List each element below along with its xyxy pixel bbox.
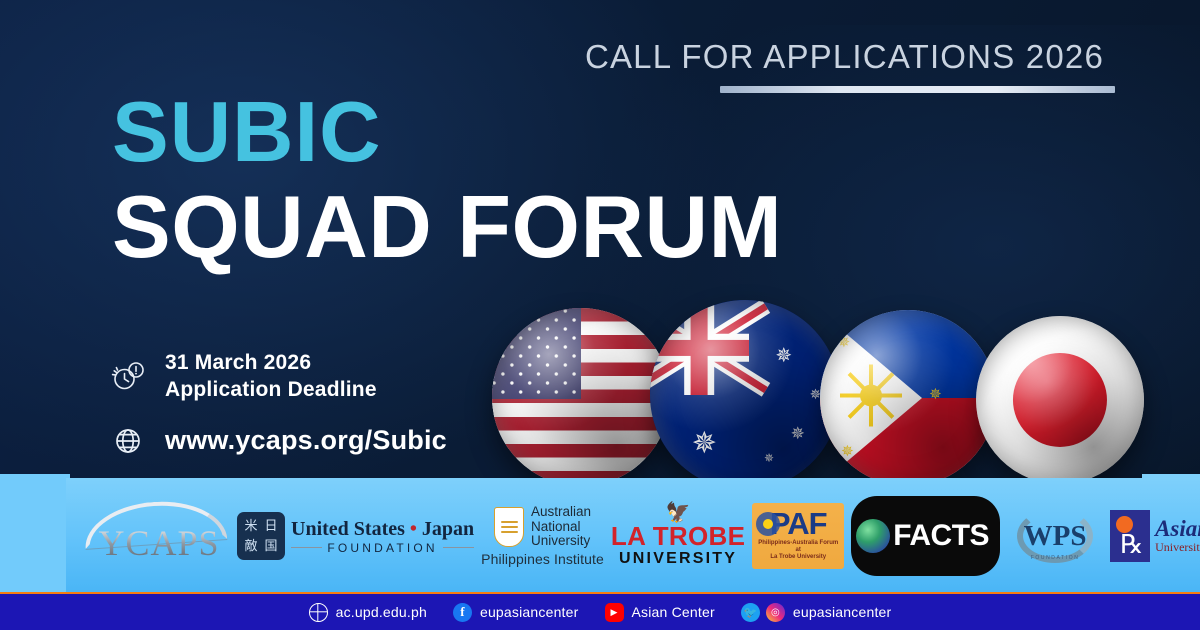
page-title-line2: SQUAD FORUM [112, 185, 782, 269]
flag-sphere-japan [976, 316, 1144, 484]
clock-alert-icon [108, 356, 148, 398]
usjf-title-dot: • [410, 518, 417, 540]
usjf-seal-char: 国 [264, 540, 277, 553]
footer-website-label: ac.upd.edu.ph [336, 604, 427, 620]
anu-name-line3: University [531, 534, 591, 549]
deadline-row: 31 March 2026 Application Deadline [108, 350, 447, 404]
logo-band-left-edge [0, 474, 70, 594]
usjf-kanji-seal-icon: 米 日 敵 国 [237, 512, 285, 560]
anu-name-line2: National [531, 520, 591, 535]
website-row[interactable]: www.ycaps.org/Subic [108, 420, 447, 462]
usjf-title-us: United States [291, 518, 405, 540]
flag-sphere-australia: ✵ ✵ ✵ ✵ ✵ [650, 300, 840, 490]
footer-social-label: eupasiancenter [793, 604, 892, 620]
la-trobe-eagle-icon: 🦅 [666, 504, 691, 522]
twitter-icon: 🐦 [741, 603, 760, 622]
usjf-rule-right [443, 547, 474, 549]
footer-item-facebook[interactable]: f eupasiancenter [453, 603, 579, 622]
footer-facebook-label: eupasiancenter [480, 604, 579, 620]
partner-logo-facts: FACTS [851, 496, 1000, 576]
website-url[interactable]: www.ycaps.org/Subic [165, 425, 447, 456]
social-footer-bar: ac.upd.edu.ph f eupasiancenter ▶ Asian C… [0, 594, 1200, 630]
paf-subtitle-line2: La Trobe University [755, 554, 841, 561]
deadline-label: Application Deadline [165, 377, 377, 404]
usjf-seal-char: 米 [244, 520, 257, 533]
globe-icon [309, 603, 328, 622]
partner-logo-la-trobe-university: 🦅 LA TROBE UNIVERSITY [611, 496, 745, 576]
footer-youtube-label: Asian Center [632, 604, 715, 620]
youtube-icon: ▶ [605, 603, 624, 622]
partner-logo-us-japan-foundation: 米 日 敵 国 United States • Japan FOUNDATION [237, 496, 474, 576]
wps-foundation-label: FOUNDATION [1007, 555, 1103, 561]
facts-globe-icon [856, 519, 890, 553]
anu-name: Australian National University [531, 505, 591, 549]
partner-logo-wps-foundation: WPS FOUNDATION [1007, 505, 1103, 567]
footer-item-social[interactable]: 🐦 ◎ eupasiancenter [741, 603, 892, 622]
asian-center-mark-icon: ℞ [1110, 510, 1150, 562]
usjf-foundation-label: FOUNDATION [327, 541, 437, 555]
event-info-block: 31 March 2026 Application Deadline www.y… [108, 350, 447, 462]
paf-philippine-sun-icon [755, 511, 781, 537]
asian-center-name: Asian Center [1155, 517, 1200, 541]
header-underline-rule [720, 86, 1115, 93]
anu-name-line1: Australian [531, 505, 591, 520]
page-title-line1: SUBIC [112, 92, 381, 174]
deadline-text: 31 March 2026 Application Deadline [165, 350, 377, 404]
partner-logo-ycaps: YCAPS [80, 496, 230, 576]
partner-logo-band: YCAPS 米 日 敵 国 United States • Japan FOUN… [66, 478, 1200, 594]
usjf-title: United States • Japan [291, 518, 474, 541]
usjf-title-japan: Japan [422, 518, 474, 540]
flag-sphere-philippines: ✵ ✵ ✵ [820, 310, 996, 486]
usjf-rule-left [291, 547, 322, 549]
deadline-date: 31 March 2026 [165, 351, 311, 374]
la-trobe-university-label: UNIVERSITY [619, 550, 737, 568]
anu-philippines-institute-label: Philippines Institute [481, 551, 604, 567]
asian-center-university-label: University of the Philippines [1155, 541, 1200, 554]
flag-spheres-group: ✵ ✵ ✵ ✵ ✵ [482, 296, 1142, 496]
wps-wordmark: WPS [1024, 522, 1087, 551]
facebook-icon: f [453, 603, 472, 622]
footer-item-website[interactable]: ac.upd.edu.ph [309, 603, 427, 622]
flag-sphere-united-states [492, 308, 670, 486]
globe-icon [108, 420, 148, 462]
usjf-seal-char: 日 [264, 520, 277, 533]
partner-logo-asian-center: ℞ Asian Center University of the Philipp… [1110, 496, 1200, 576]
la-trobe-name: LA TROBE [611, 523, 745, 549]
footer-item-youtube[interactable]: ▶ Asian Center [605, 603, 715, 622]
partner-logo-anu-philippines-institute: Australian National University Philippin… [481, 496, 604, 576]
poster-canvas: CALL FOR APPLICATIONS 2026 SUBIC SQUAD F… [0, 0, 1200, 630]
facts-wordmark: FACTS [893, 521, 989, 551]
anu-crest-icon [494, 507, 524, 547]
usjf-seal-char: 敵 [244, 540, 257, 553]
ycaps-wordmark: YCAPS [86, 522, 232, 564]
partner-logo-paf: PAF Philippines-Australia Forum at La Tr… [752, 503, 844, 569]
paf-subtitle-line1: Philippines-Australia Forum at [755, 540, 841, 554]
paf-subtitle: Philippines-Australia Forum at La Trobe … [755, 540, 841, 561]
instagram-icon: ◎ [766, 603, 785, 622]
call-for-applications-header: CALL FOR APPLICATIONS 2026 [585, 38, 1104, 76]
